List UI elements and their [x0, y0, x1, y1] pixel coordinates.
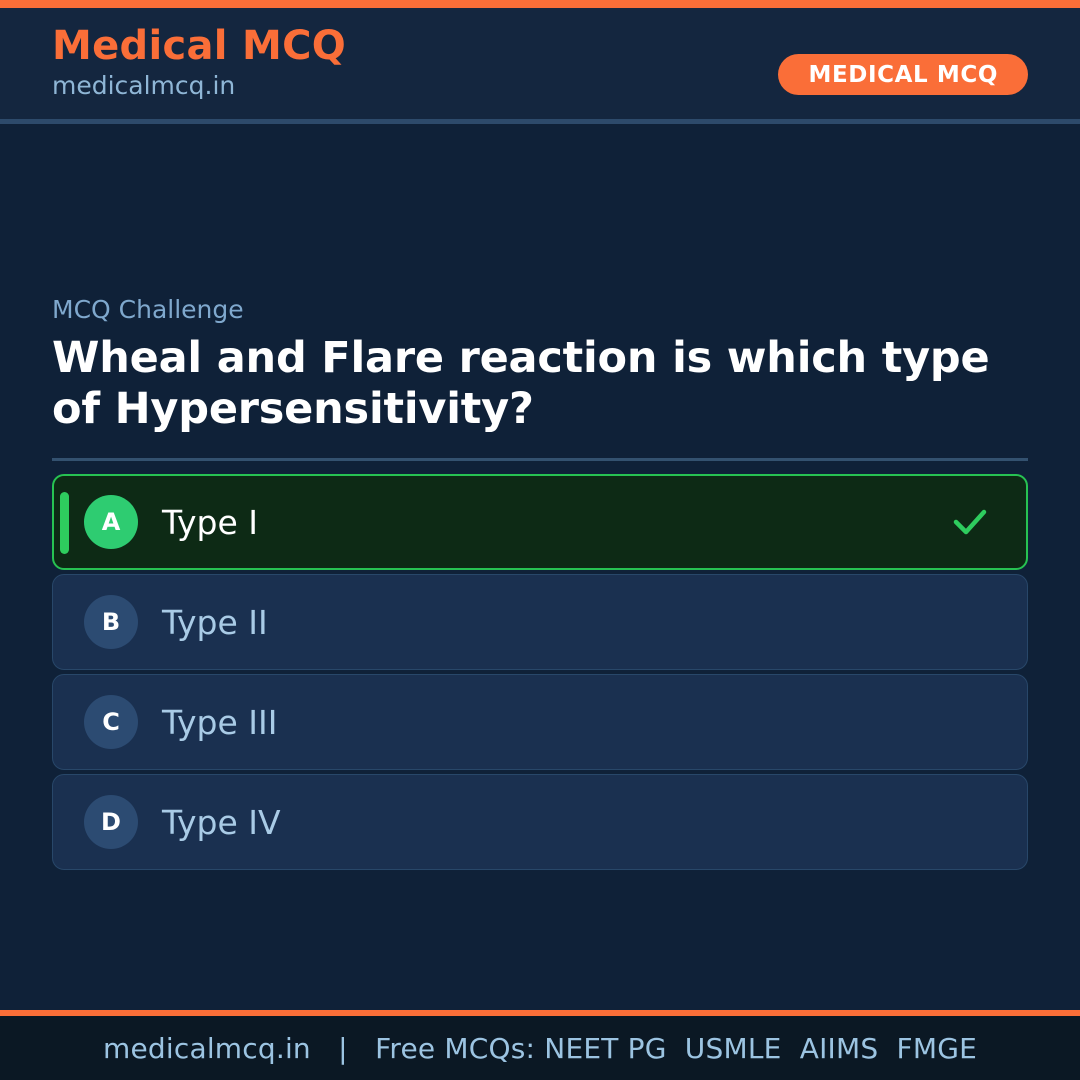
header-bar: Medical MCQ medicalmcq.in MEDICAL MCQ: [0, 8, 1080, 119]
brand-url: medicalmcq.in: [52, 71, 346, 101]
correct-accent-bar: [60, 492, 69, 554]
option-d[interactable]: D Type IV: [52, 774, 1028, 870]
question-divider: [52, 458, 1028, 461]
question-block: MCQ Challenge Wheal and Flare reaction i…: [52, 294, 1028, 434]
footer-bar: medicalmcq.in | Free MCQs: NEET PG USMLE…: [0, 1016, 1080, 1080]
option-a[interactable]: A Type I: [52, 474, 1028, 570]
check-icon: [950, 502, 990, 542]
option-letter-a: A: [84, 495, 138, 549]
top-accent-bar: [0, 0, 1080, 8]
option-label-a: Type I: [162, 506, 258, 539]
option-label-c: Type III: [162, 706, 277, 739]
options-list: A Type I B Type II C Type III D Typ: [52, 474, 1028, 874]
header-divider: [0, 119, 1080, 124]
option-c[interactable]: C Type III: [52, 674, 1028, 770]
question-eyebrow: MCQ Challenge: [52, 294, 1028, 325]
mcq-card: Medical MCQ medicalmcq.in MEDICAL MCQ MC…: [0, 0, 1080, 1080]
option-letter-b: B: [84, 595, 138, 649]
option-label-d: Type IV: [162, 806, 281, 839]
brand: Medical MCQ medicalmcq.in: [52, 24, 346, 101]
option-letter-d: D: [84, 795, 138, 849]
question-text: Wheal and Flare reaction is which type o…: [52, 333, 1028, 434]
footer-text: medicalmcq.in | Free MCQs: NEET PG USMLE…: [103, 1032, 977, 1065]
header-badge[interactable]: MEDICAL MCQ: [778, 54, 1028, 95]
option-label-b: Type II: [162, 606, 268, 639]
option-letter-c: C: [84, 695, 138, 749]
brand-title: Medical MCQ: [52, 24, 346, 69]
option-b[interactable]: B Type II: [52, 574, 1028, 670]
